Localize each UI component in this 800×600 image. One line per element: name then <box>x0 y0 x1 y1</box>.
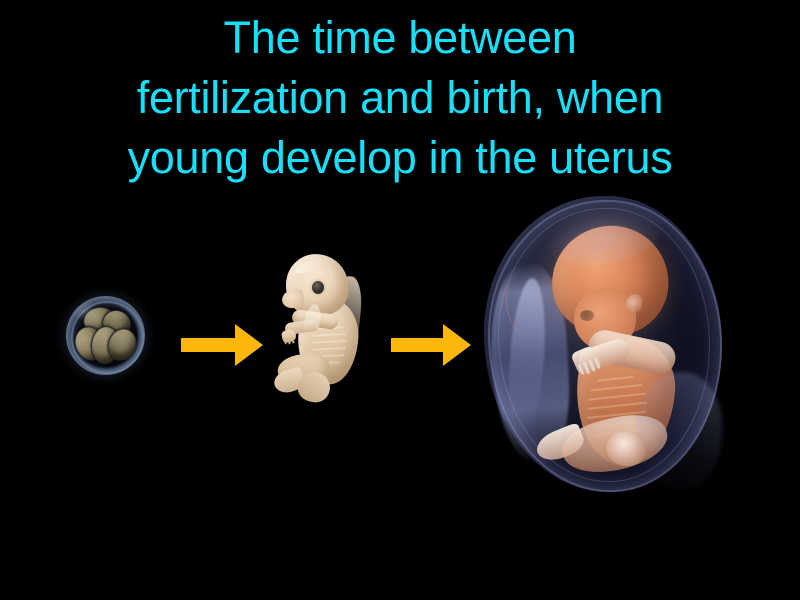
slide-canvas: The time between fertilization and birth… <box>0 0 800 600</box>
embryo-eye <box>312 281 324 294</box>
arrow-head <box>443 324 471 366</box>
arrow-head <box>235 324 263 366</box>
caption-line-1: The time between <box>0 8 800 68</box>
arrow-shaft <box>391 338 445 352</box>
cleavage-stage-embryo-image <box>66 296 145 375</box>
definition-caption: The time between fertilization and birth… <box>0 8 800 188</box>
progression-arrow-2-icon <box>391 324 471 366</box>
caption-line-3: young develop in the uterus <box>0 128 800 188</box>
arrow-shaft <box>181 338 237 352</box>
progression-arrow-1-icon <box>181 324 263 366</box>
embryo-image <box>268 250 376 410</box>
caption-line-2: fertilization and birth, when <box>0 68 800 128</box>
fetus-in-amniotic-sac-image <box>484 196 728 496</box>
